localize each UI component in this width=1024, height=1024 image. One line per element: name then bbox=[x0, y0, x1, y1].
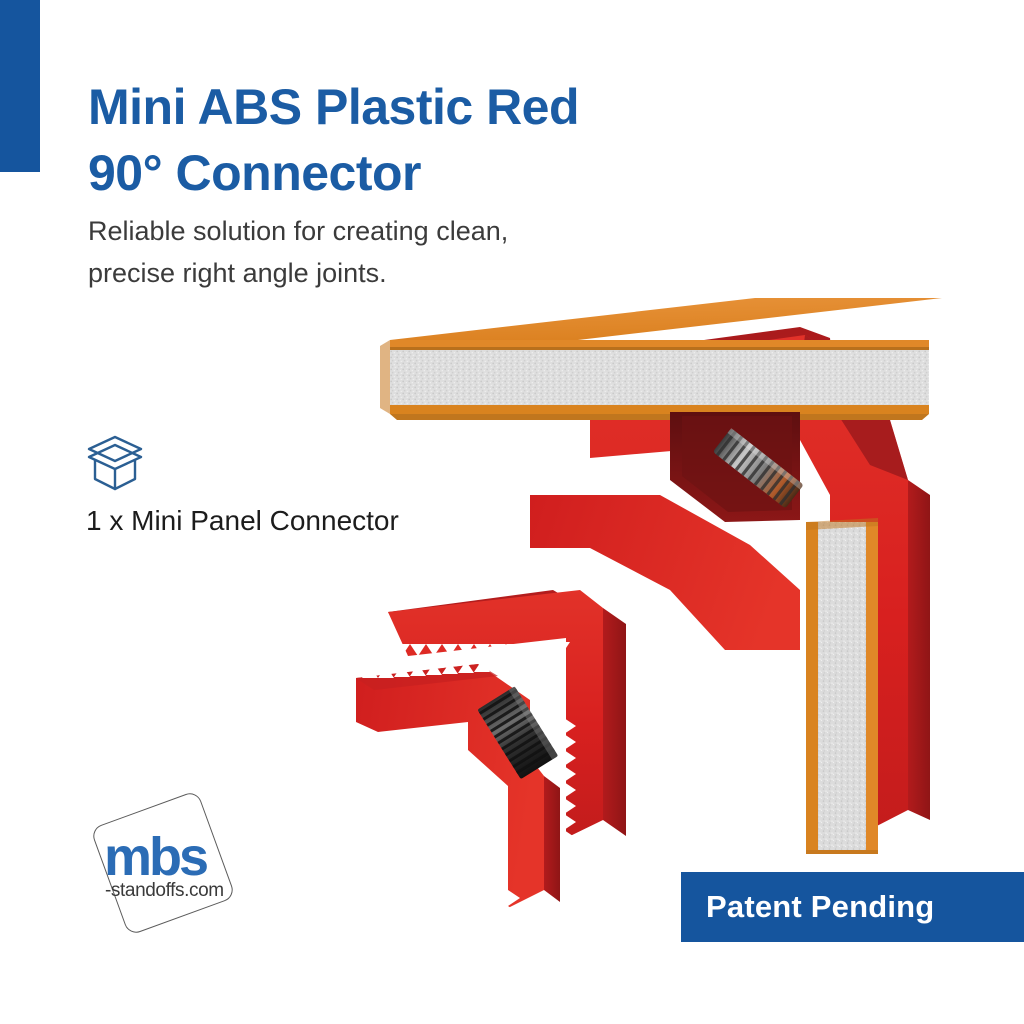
page-title: Mini ABS Plastic Red 90° Connector bbox=[88, 74, 688, 206]
mbs-standoffs-logo[interactable]: mbs -standoffs.com bbox=[78, 792, 258, 930]
standalone-connector bbox=[356, 590, 626, 910]
product-illustration bbox=[330, 290, 1010, 910]
logo-domain: -standoffs.com bbox=[105, 880, 224, 902]
horizontal-sandwich-panel bbox=[380, 298, 942, 420]
page-subtitle-line-2: precise right angle joints. bbox=[88, 252, 648, 294]
vertical-sandwich-panel bbox=[806, 518, 878, 854]
open-box-icon bbox=[84, 434, 146, 492]
page-subtitle-line-1: Reliable solution for creating clean, bbox=[88, 210, 648, 252]
product-marketing-card: Mini ABS Plastic Red 90° Connector Relia… bbox=[0, 0, 1024, 1024]
page-title-line-1: Mini ABS Plastic Red bbox=[88, 74, 688, 140]
patent-pending-label: Patent Pending bbox=[681, 889, 934, 925]
logo-wordmark: mbs bbox=[104, 830, 206, 884]
installed-connector-assembly bbox=[380, 298, 942, 854]
page-title-line-2: 90° Connector bbox=[88, 140, 688, 206]
logo-text: mbs -standoffs.com bbox=[104, 830, 249, 902]
left-accent-bar bbox=[0, 0, 40, 172]
page-subtitle: Reliable solution for creating clean, pr… bbox=[88, 210, 648, 294]
patent-pending-badge: Patent Pending bbox=[681, 872, 1024, 942]
